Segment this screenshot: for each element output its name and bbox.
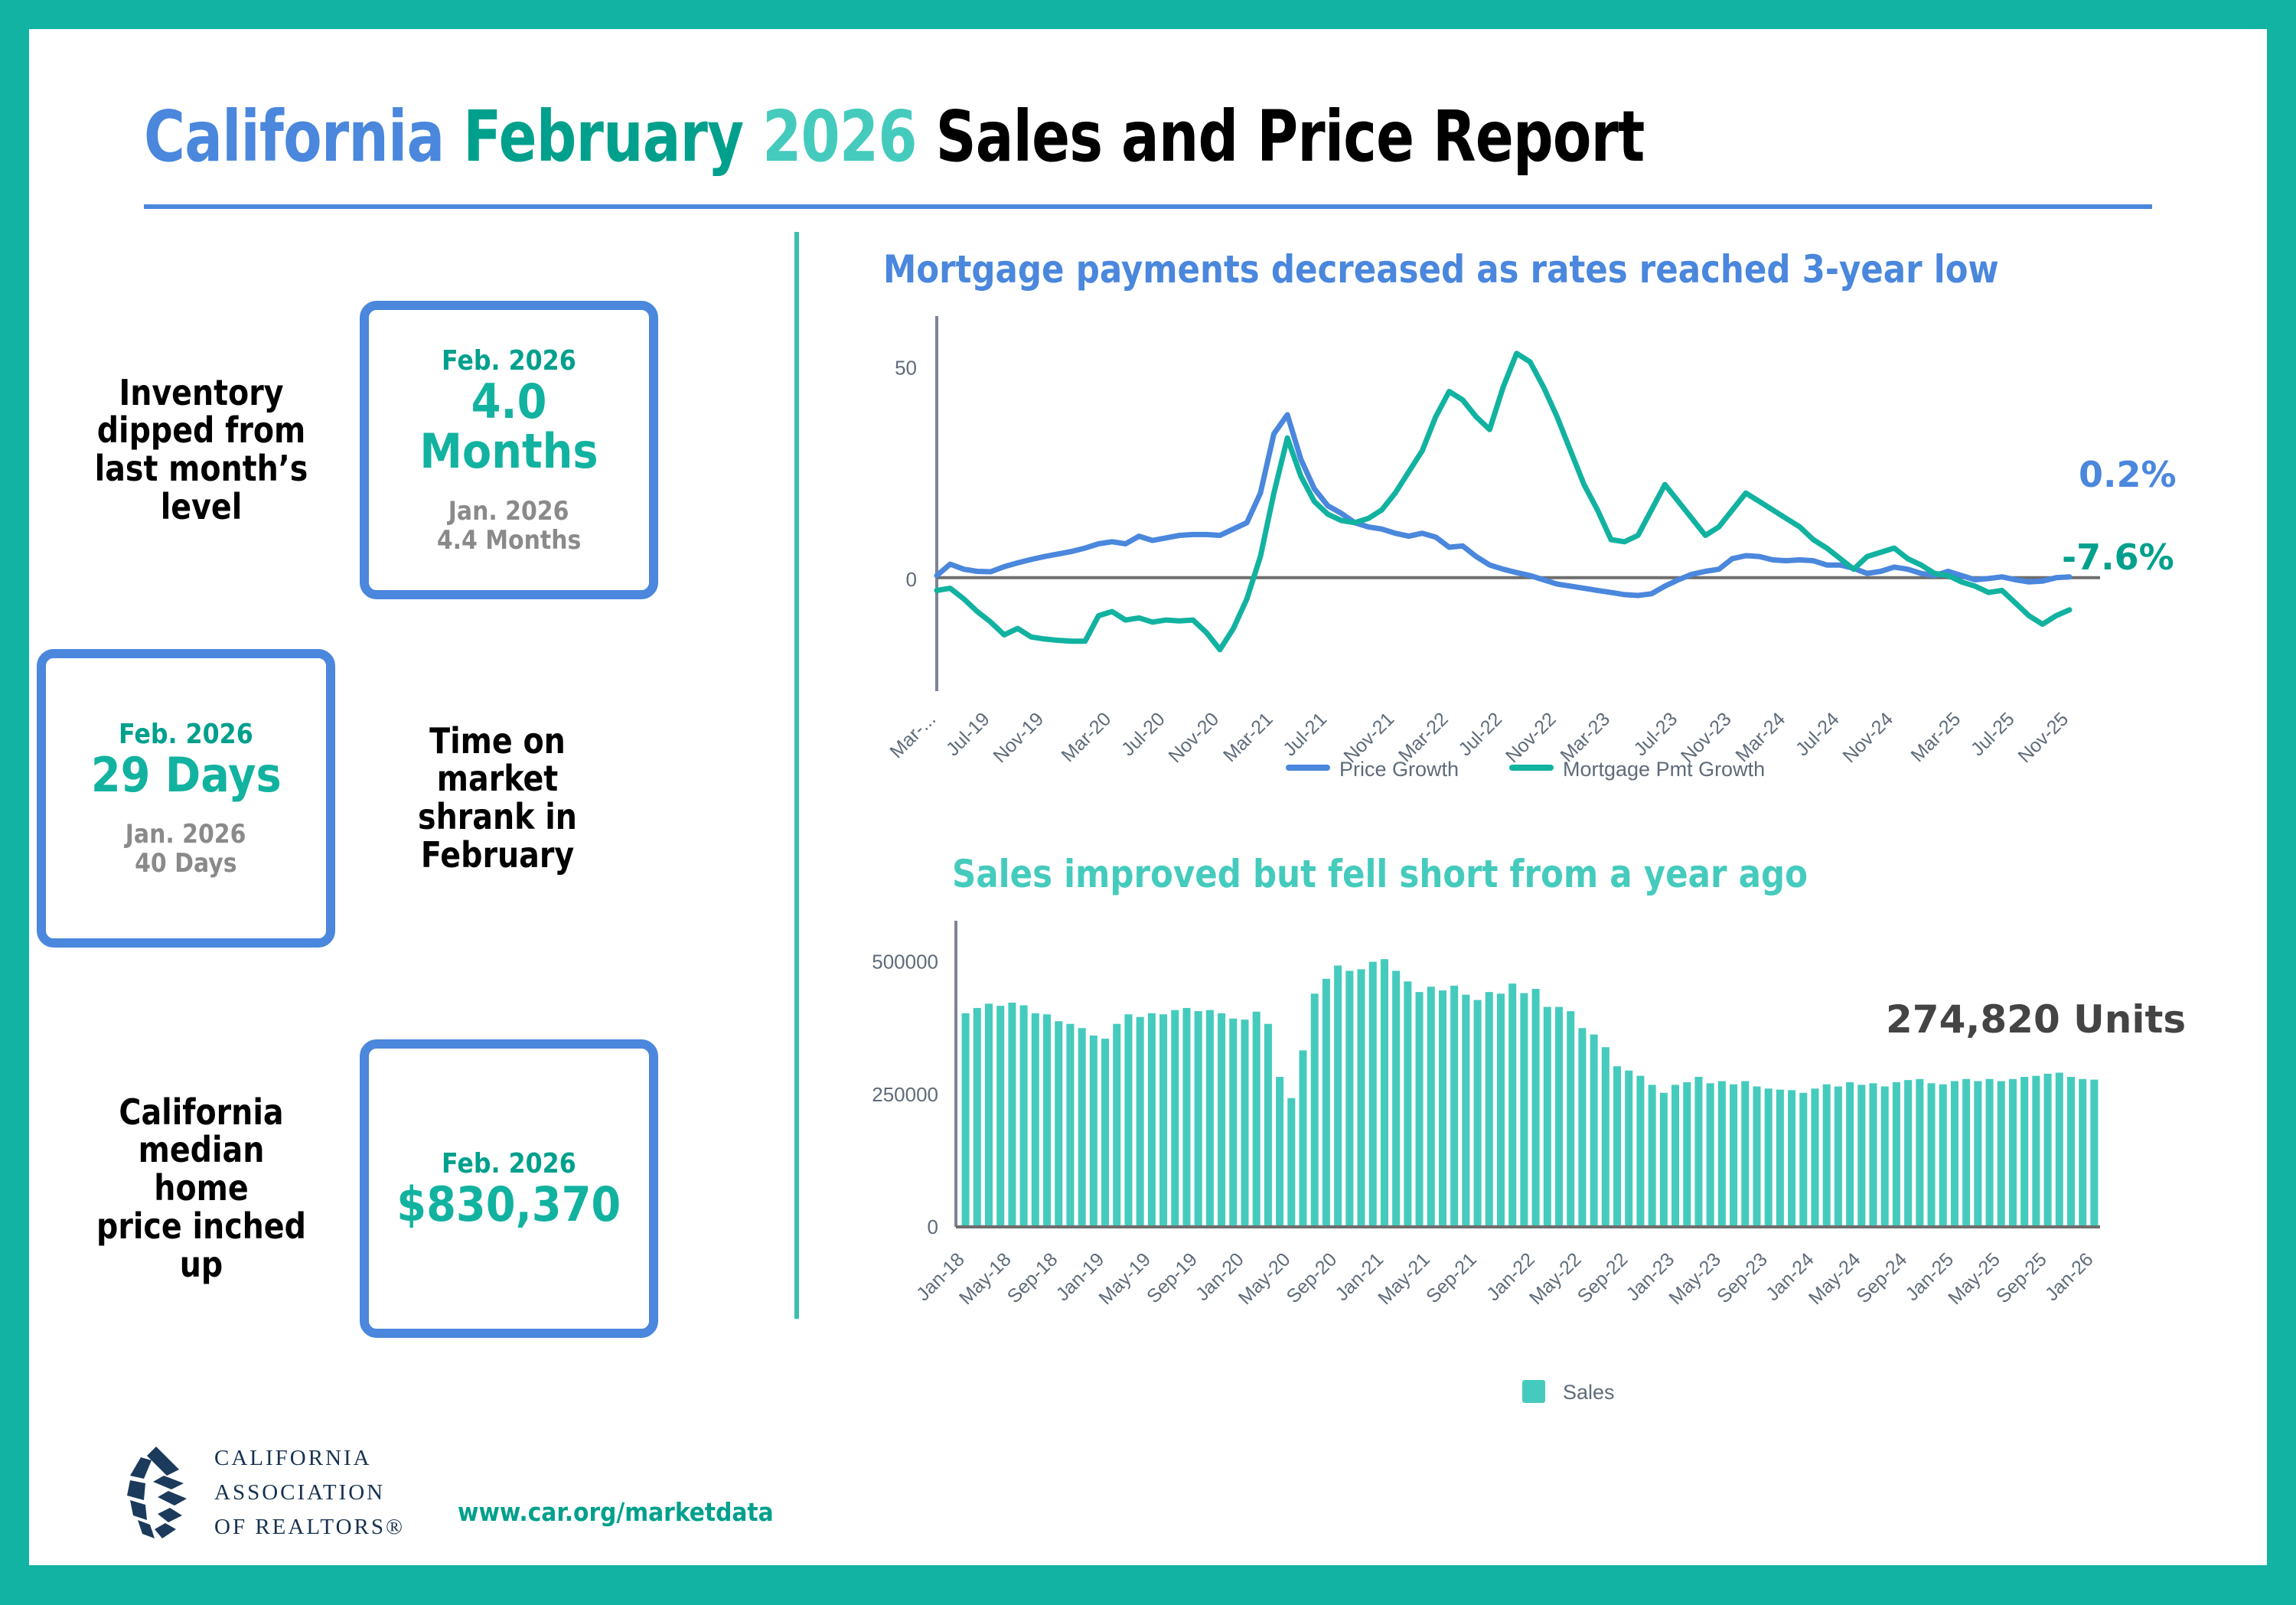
stat-current-label: Feb. 2026: [442, 345, 576, 377]
svg-text:May-18: May-18: [955, 1248, 1016, 1309]
bar: [1998, 1081, 2005, 1225]
bar: [1113, 1024, 1120, 1225]
title-suffix: Sales and Price Report: [936, 96, 1645, 178]
title-year: 2026: [762, 96, 917, 178]
bar-chart-legend: Sales: [1522, 1380, 1615, 1404]
y-axis-ticks: 0250000500000: [872, 951, 938, 1238]
svg-text:Mar-20: Mar-20: [1057, 708, 1115, 766]
bar: [1928, 1083, 1936, 1225]
bar: [1124, 1014, 1132, 1225]
bar: [1730, 1085, 1737, 1225]
infographic-page: California February 2026 Sales and Price…: [29, 29, 2267, 1565]
bar: [1625, 1071, 1632, 1225]
bar: [1497, 993, 1505, 1225]
sales-bar-chart: 0250000500000 Jan-18May-18Sep-18Jan-19Ma…: [799, 905, 2238, 1472]
bar: [1811, 1088, 1818, 1225]
stat-box-time-on-market: Feb. 2026 29 Days Jan. 2026 40 Days: [37, 649, 335, 948]
svg-text:0: 0: [906, 568, 917, 591]
bar: [1253, 1012, 1261, 1225]
bar: [1857, 1085, 1865, 1225]
bar: [2044, 1074, 2052, 1225]
header: California February 2026 Sales and Price…: [29, 29, 2267, 209]
bar: [1660, 1093, 1668, 1225]
line-chart-title: Mortgage payments decreased as rates rea…: [883, 247, 1999, 292]
stat-current-value: 4.0 Months: [383, 377, 634, 476]
bar: [2090, 1080, 2098, 1225]
bar: [1788, 1090, 1795, 1225]
price-growth-line: [937, 415, 2069, 595]
svg-text:May-24: May-24: [1805, 1248, 1865, 1309]
svg-text:0: 0: [928, 1215, 938, 1238]
svg-text:Sep-24: Sep-24: [1853, 1248, 1912, 1307]
svg-text:May-23: May-23: [1665, 1248, 1725, 1309]
bar: [2032, 1076, 2040, 1225]
stat-current-label: Feb. 2026: [119, 719, 253, 750]
bar: [1683, 1082, 1691, 1225]
car-shell-icon: [121, 1445, 194, 1541]
logo-line-3: OF REALTORS®: [214, 1510, 405, 1545]
bar: [1159, 1014, 1167, 1225]
svg-text:May-20: May-20: [1234, 1248, 1295, 1309]
charts-column: Mortgage payments decreased as rates rea…: [799, 209, 2267, 1479]
car-logo-text: CALIFORNIA ASSOCIATION OF REALTORS®: [214, 1441, 405, 1545]
bar: [1300, 1050, 1307, 1225]
bar: [1846, 1082, 1854, 1225]
bar: [1381, 959, 1388, 1225]
svg-text:Jul-24: Jul-24: [1792, 708, 1844, 760]
bar: [1649, 1085, 1656, 1225]
bar: [1613, 1066, 1621, 1225]
bar: [1694, 1077, 1702, 1225]
stat-row-inventory: Inventorydipped fromlast month’slevel Fe…: [75, 301, 658, 599]
stat-previous-label: Jan. 2026: [126, 820, 246, 849]
svg-text:Jul-21: Jul-21: [1279, 708, 1331, 760]
svg-text:Mar-21: Mar-21: [1219, 708, 1277, 766]
bar: [1718, 1081, 1726, 1225]
stat-current-value: $830,370: [397, 1179, 621, 1229]
bar: [1893, 1082, 1900, 1225]
marketdata-url[interactable]: www.car.org/marketdata: [458, 1497, 774, 1527]
mortgage-pmt-growth-line: [937, 354, 2069, 650]
bar: [2056, 1072, 2063, 1225]
bar: [1590, 1035, 1598, 1225]
bar: [1369, 962, 1377, 1225]
svg-text:Sep-19: Sep-19: [1143, 1248, 1202, 1307]
bar: [1229, 1019, 1237, 1225]
bar-chart-title: Sales improved but fell short from a yea…: [952, 852, 1808, 896]
bar: [1939, 1085, 1947, 1225]
bar: [1182, 1008, 1190, 1225]
y-axis-ticks: 050: [895, 356, 917, 590]
svg-text:Jul-23: Jul-23: [1629, 708, 1681, 760]
bar: [1032, 1013, 1039, 1225]
stat-caption-inventory: Inventorydipped fromlast month’slevel: [93, 374, 310, 527]
stat-row-median-price: Californiamedian homeprice inchedup Feb.…: [75, 1039, 658, 1338]
stat-previous-label: Jan. 2026: [448, 497, 569, 526]
legend-label-mortgage-pmt: Mortgage Pmt Growth: [1563, 758, 1765, 781]
bar: [1567, 1011, 1574, 1225]
bar: [1264, 1024, 1272, 1225]
bar: [1066, 1024, 1074, 1225]
svg-text:500000: 500000: [872, 951, 938, 974]
bar: [974, 1008, 981, 1225]
svg-text:May-21: May-21: [1374, 1248, 1434, 1309]
bar: [2067, 1077, 2075, 1225]
bar: [1137, 1017, 1144, 1225]
bar: [1195, 1011, 1202, 1225]
bar: [1148, 1013, 1156, 1225]
stat-caption-time-on-market: Time onmarketshrank inFebruary: [386, 723, 609, 875]
bar: [1916, 1079, 1923, 1225]
bar: [1043, 1014, 1051, 1225]
page-title: California February 2026 Sales and Price…: [144, 102, 1750, 172]
bar: [1345, 971, 1353, 1225]
bar: [2009, 1079, 2017, 1225]
svg-text:Jul-20: Jul-20: [1117, 708, 1169, 760]
bar: [1486, 992, 1493, 1225]
bar: [1450, 986, 1458, 1225]
svg-text:Sep-21: Sep-21: [1422, 1248, 1481, 1307]
title-month: February: [463, 96, 743, 178]
bar: [1951, 1081, 1958, 1225]
stat-previous-value: 40 Days: [135, 849, 236, 878]
bar: [1171, 1010, 1179, 1225]
svg-text:May-19: May-19: [1094, 1248, 1155, 1309]
bar: [1904, 1080, 1912, 1225]
bar: [1636, 1076, 1644, 1225]
bar: [1753, 1086, 1760, 1225]
bar: [1799, 1093, 1807, 1225]
bar: [1439, 990, 1446, 1225]
mortgage-line-chart: 050 Mar-...Jul-19Nov-19Mar-20Jul-20Nov-2…: [799, 293, 2238, 844]
svg-text:May-25: May-25: [1944, 1248, 2004, 1309]
stat-current-label: Feb. 2026: [442, 1148, 576, 1179]
bar: [1474, 1000, 1482, 1225]
stat-caption-median-price: Californiamedian homeprice inchedup: [93, 1094, 310, 1284]
svg-text:Nov-19: Nov-19: [989, 708, 1048, 767]
bar: [1404, 981, 1411, 1225]
x-axis-ticks: Jan-18May-18Sep-18Jan-19May-19Sep-19Jan-…: [912, 1248, 2098, 1309]
legend-label-price-growth: Price Growth: [1339, 758, 1459, 781]
mortgage-pmt-endpoint-label: -7.6%: [2062, 537, 2174, 578]
svg-text:Nov-25: Nov-25: [2014, 708, 2073, 767]
title-california: California: [144, 96, 444, 178]
bar: [1334, 966, 1342, 1226]
bar: [2079, 1079, 2086, 1225]
bar: [1358, 969, 1365, 1225]
bar: [1008, 1003, 1016, 1225]
bar: [1206, 1010, 1214, 1225]
stat-previous-value: 4.4 Months: [437, 526, 581, 555]
svg-text:Mar-25: Mar-25: [1906, 708, 1965, 766]
bar: [1765, 1088, 1773, 1225]
bar: [1322, 979, 1330, 1225]
svg-text:Sep-23: Sep-23: [1713, 1248, 1772, 1307]
bar: [1218, 1013, 1225, 1225]
bar: [985, 1003, 993, 1225]
logo-line-2: ASSOCIATION: [214, 1476, 405, 1510]
stats-column: Inventorydipped fromlast month’slevel Fe…: [29, 209, 794, 1479]
content-area: Inventorydipped fromlast month’slevel Fe…: [29, 209, 2267, 1479]
sales-units-annotation: 274,820 Units: [1886, 997, 2186, 1042]
logo-line-1: CALIFORNIA: [214, 1441, 405, 1476]
svg-text:May-22: May-22: [1525, 1248, 1586, 1309]
car-logo: CALIFORNIA ASSOCIATION OF REALTORS®: [121, 1441, 405, 1545]
stat-box-inventory: Feb. 2026 4.0 Months Jan. 2026 4.4 Month…: [360, 301, 658, 599]
bar: [1962, 1079, 1970, 1225]
svg-text:Sep-18: Sep-18: [1003, 1248, 1062, 1307]
bar: [1707, 1083, 1714, 1225]
price-growth-endpoint-label: 0.2%: [2079, 454, 2177, 495]
x-axis-ticks: Mar-...Jul-19Nov-19Mar-20Jul-20Nov-20Mar…: [885, 708, 2073, 767]
svg-text:50: 50: [895, 356, 917, 379]
bar: [1544, 1007, 1551, 1225]
bar: [1078, 1028, 1086, 1225]
legend-swatch-sales: [1522, 1380, 1545, 1403]
bar: [1602, 1047, 1609, 1225]
svg-text:Jan-26: Jan-26: [2041, 1248, 2098, 1305]
bar: [1986, 1079, 1994, 1225]
bar: [1835, 1086, 1842, 1225]
legend-label-sales: Sales: [1563, 1381, 1615, 1404]
bar: [1508, 984, 1516, 1225]
svg-text:Jul-25: Jul-25: [1967, 708, 2019, 760]
bar: [1741, 1081, 1749, 1225]
bar: [1823, 1085, 1831, 1225]
bar: [2020, 1077, 2028, 1225]
bar: [1578, 1028, 1586, 1225]
bar: [1055, 1021, 1062, 1225]
bar: [1090, 1036, 1097, 1225]
bar: [1532, 989, 1540, 1225]
svg-text:Sep-25: Sep-25: [1992, 1248, 2051, 1307]
stat-box-median-price: Feb. 2026 $830,370: [360, 1039, 658, 1338]
bar: [1276, 1077, 1283, 1225]
bar: [1974, 1081, 1981, 1225]
bar: [1101, 1039, 1109, 1225]
bar: [1427, 987, 1435, 1225]
bar: [1555, 1007, 1563, 1225]
stat-row-time-on-market: Feb. 2026 29 Days Jan. 2026 40 Days Time…: [37, 649, 628, 948]
svg-text:Jul-19: Jul-19: [942, 708, 994, 760]
svg-text:Nov-22: Nov-22: [1502, 708, 1561, 767]
bar: [1416, 992, 1424, 1225]
bar: [1392, 971, 1400, 1225]
bar: [1311, 993, 1319, 1225]
bar: [1287, 1098, 1295, 1225]
svg-text:Jul-22: Jul-22: [1454, 708, 1506, 760]
bar: [1462, 995, 1469, 1225]
bar: [1020, 1005, 1028, 1225]
bar: [1671, 1085, 1679, 1225]
bar: [996, 1006, 1004, 1225]
line-chart-legend: Price Growth Mortgage Pmt Growth: [1289, 758, 1765, 781]
svg-text:Sep-22: Sep-22: [1574, 1248, 1632, 1307]
svg-text:250000: 250000: [872, 1083, 938, 1106]
bar: [1870, 1083, 1877, 1225]
svg-text:Nov-24: Nov-24: [1838, 708, 1897, 767]
bar: [1520, 993, 1528, 1225]
svg-text:Nov-20: Nov-20: [1164, 708, 1223, 767]
bar: [1881, 1086, 1889, 1225]
bar: [1776, 1090, 1784, 1225]
stat-current-value: 29 Days: [91, 750, 282, 800]
svg-text:Sep-20: Sep-20: [1283, 1248, 1342, 1307]
svg-text:Mar-...: Mar-...: [885, 708, 940, 762]
bar: [1241, 1019, 1248, 1225]
bar: [962, 1013, 970, 1225]
